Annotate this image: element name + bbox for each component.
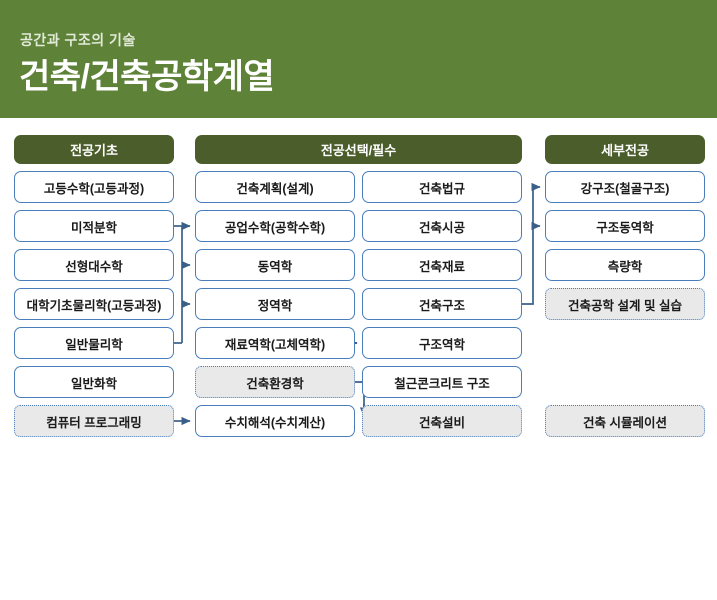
course-box-일반물리학[interactable]: 일반물리학 bbox=[14, 327, 174, 359]
page-banner: 공간과 구조의 기술 건축/건축공학계열 bbox=[0, 0, 717, 118]
course-box-건축계획-설계[interactable]: 건축계획(설계) bbox=[195, 171, 355, 203]
course-box-측량학[interactable]: 측량학 bbox=[545, 249, 705, 281]
course-box-재료역학-고체역학[interactable]: 재료역학(고체역학) bbox=[195, 327, 355, 359]
course-box-정역학[interactable]: 정역학 bbox=[195, 288, 355, 320]
course-box-건축법규[interactable]: 건축법규 bbox=[362, 171, 522, 203]
course-box-고등수학-고등과정[interactable]: 고등수학(고등과정) bbox=[14, 171, 174, 203]
course-box-건축공학-설계-및-실습[interactable]: 건축공학 설계 및 실습 bbox=[545, 288, 705, 320]
course-box-미적분학[interactable]: 미적분학 bbox=[14, 210, 174, 242]
course-box-건축설비[interactable]: 건축설비 bbox=[362, 405, 522, 437]
page-title: 건축/건축공학계열 bbox=[19, 49, 274, 98]
banner-subtitle: 공간과 구조의 기술 bbox=[20, 30, 136, 50]
course-box-수치해석-수치계산[interactable]: 수치해석(수치계산) bbox=[195, 405, 355, 437]
course-box-건축구조[interactable]: 건축구조 bbox=[362, 288, 522, 320]
course-box-건축환경학[interactable]: 건축환경학 bbox=[195, 366, 355, 398]
course-box-건축재료[interactable]: 건축재료 bbox=[362, 249, 522, 281]
column-header-2: 전공선택/필수 bbox=[195, 135, 522, 164]
course-box-강구조-철골구조[interactable]: 강구조(철골구조) bbox=[545, 171, 705, 203]
course-box-구조동역학[interactable]: 구조동역학 bbox=[545, 210, 705, 242]
course-box-일반화학[interactable]: 일반화학 bbox=[14, 366, 174, 398]
course-box-선형대수학[interactable]: 선형대수학 bbox=[14, 249, 174, 281]
course-box-대학기초물리학-고등과정[interactable]: 대학기초물리학(고등과정) bbox=[14, 288, 174, 320]
course-box-건축시공[interactable]: 건축시공 bbox=[362, 210, 522, 242]
course-box-공업수학-공학수학[interactable]: 공업수학(공학수학) bbox=[195, 210, 355, 242]
course-box-컴퓨터-프로그래밍[interactable]: 컴퓨터 프로그래밍 bbox=[14, 405, 174, 437]
course-box-철근콘크리트-구조[interactable]: 철근콘크리트 구조 bbox=[362, 366, 522, 398]
course-box-동역학[interactable]: 동역학 bbox=[195, 249, 355, 281]
curriculum-diagram: 공간과 구조의 기술 건축/건축공학계열 bbox=[0, 0, 717, 600]
column-header-3: 세부전공 bbox=[545, 135, 705, 164]
course-box-구조역학[interactable]: 구조역학 bbox=[362, 327, 522, 359]
column-header-1: 전공기초 bbox=[14, 135, 174, 164]
course-box-건축-시뮬레이션[interactable]: 건축 시뮬레이션 bbox=[545, 405, 705, 437]
trunk-structure-vertical bbox=[522, 187, 533, 304]
